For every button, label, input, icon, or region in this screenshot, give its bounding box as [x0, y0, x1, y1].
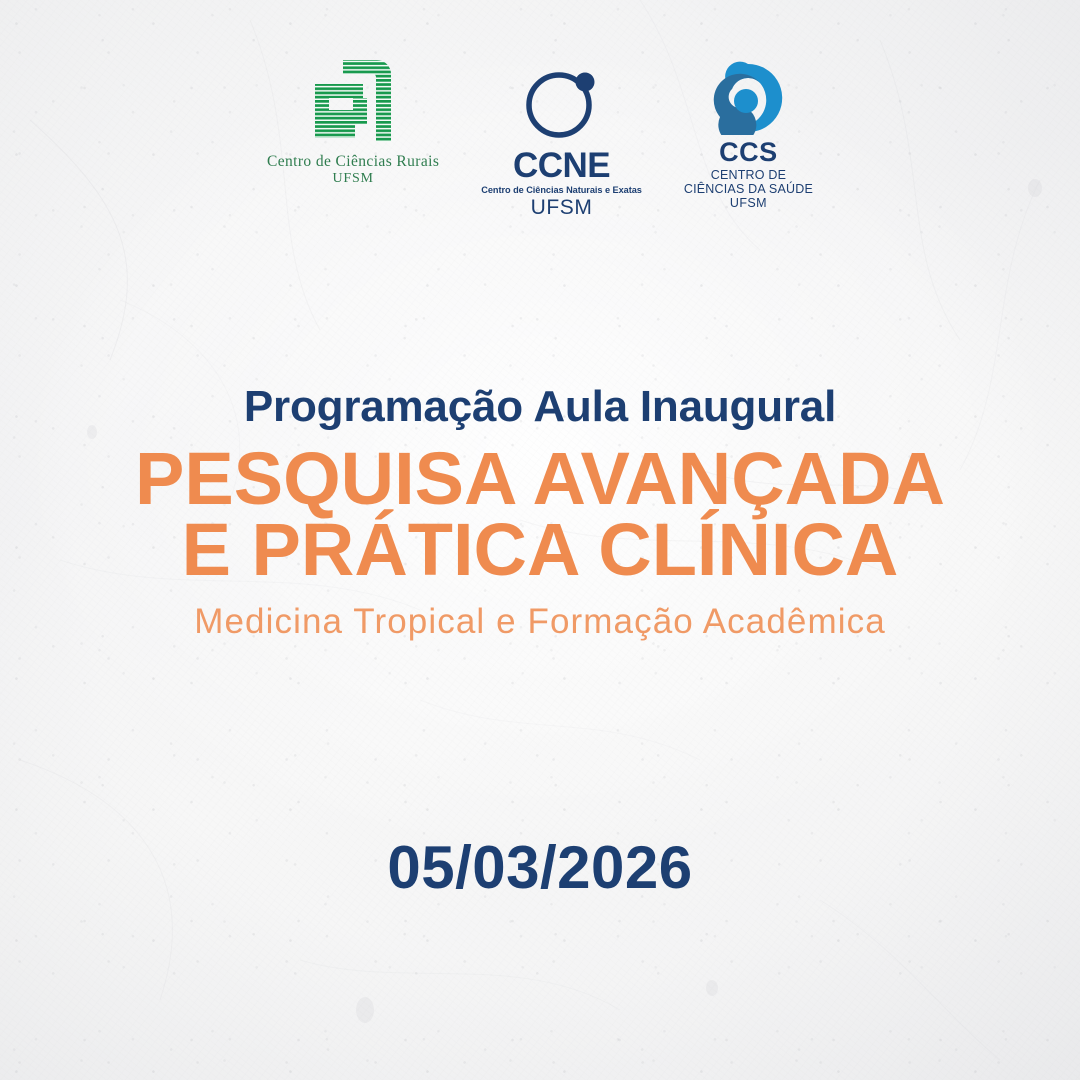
ccne-acronym: CCNE [513, 148, 610, 183]
event-date: 05/03/2026 [0, 838, 1080, 898]
ccs-acronym: CCS [719, 139, 778, 166]
event-title-line1: PESQUISA AVANÇADA [0, 443, 1080, 514]
event-title: PESQUISA AVANÇADA E PRÁTICA CLÍNICA [0, 443, 1080, 585]
event-title-line2: E PRÁTICA CLÍNICA [0, 514, 1080, 585]
headline-block: Programação Aula Inaugural PESQUISA AVAN… [0, 383, 1080, 641]
ccr-caption-line1: Centro de Ciências Rurais [267, 153, 439, 170]
logo-ccne: CCNE Centro de Ciências Naturais e Exata… [481, 58, 642, 220]
ccr-caption-line2: UFSM [267, 171, 439, 187]
event-poster: Centro de Ciências Rurais UFSM CCNE Cent… [0, 0, 1080, 1080]
event-kicker: Programação Aula Inaugural [0, 383, 1080, 431]
ccr-striped-r-mark-icon [307, 58, 399, 144]
ccs-subtitle: CENTRO DE CIÊNCIAS DA SAÚDE [684, 168, 813, 196]
ccs-subtitle-line2: CIÊNCIAS DA SAÚDE [684, 182, 813, 196]
ccs-spiral-mark-icon [710, 60, 786, 136]
logo-ccr: Centro de Ciências Rurais UFSM [267, 58, 439, 187]
ccne-subtitle: Centro de Ciências Naturais e Exatas [481, 185, 642, 195]
ccs-subtitle-line1: CENTRO DE [711, 168, 786, 182]
institution-logo-row: Centro de Ciências Rurais UFSM CCNE Cent… [0, 58, 1080, 220]
event-subtitle: Medicina Tropical e Formação Acadêmica [0, 603, 1080, 642]
ccne-ufsm: UFSM [531, 196, 593, 220]
logo-ccs: CCS CENTRO DE CIÊNCIAS DA SAÚDE UFSM [684, 58, 813, 210]
ccr-caption: Centro de Ciências Rurais UFSM [267, 153, 439, 187]
ccne-ring-dot-mark-icon [521, 62, 603, 144]
ccs-ufsm: UFSM [730, 196, 767, 210]
